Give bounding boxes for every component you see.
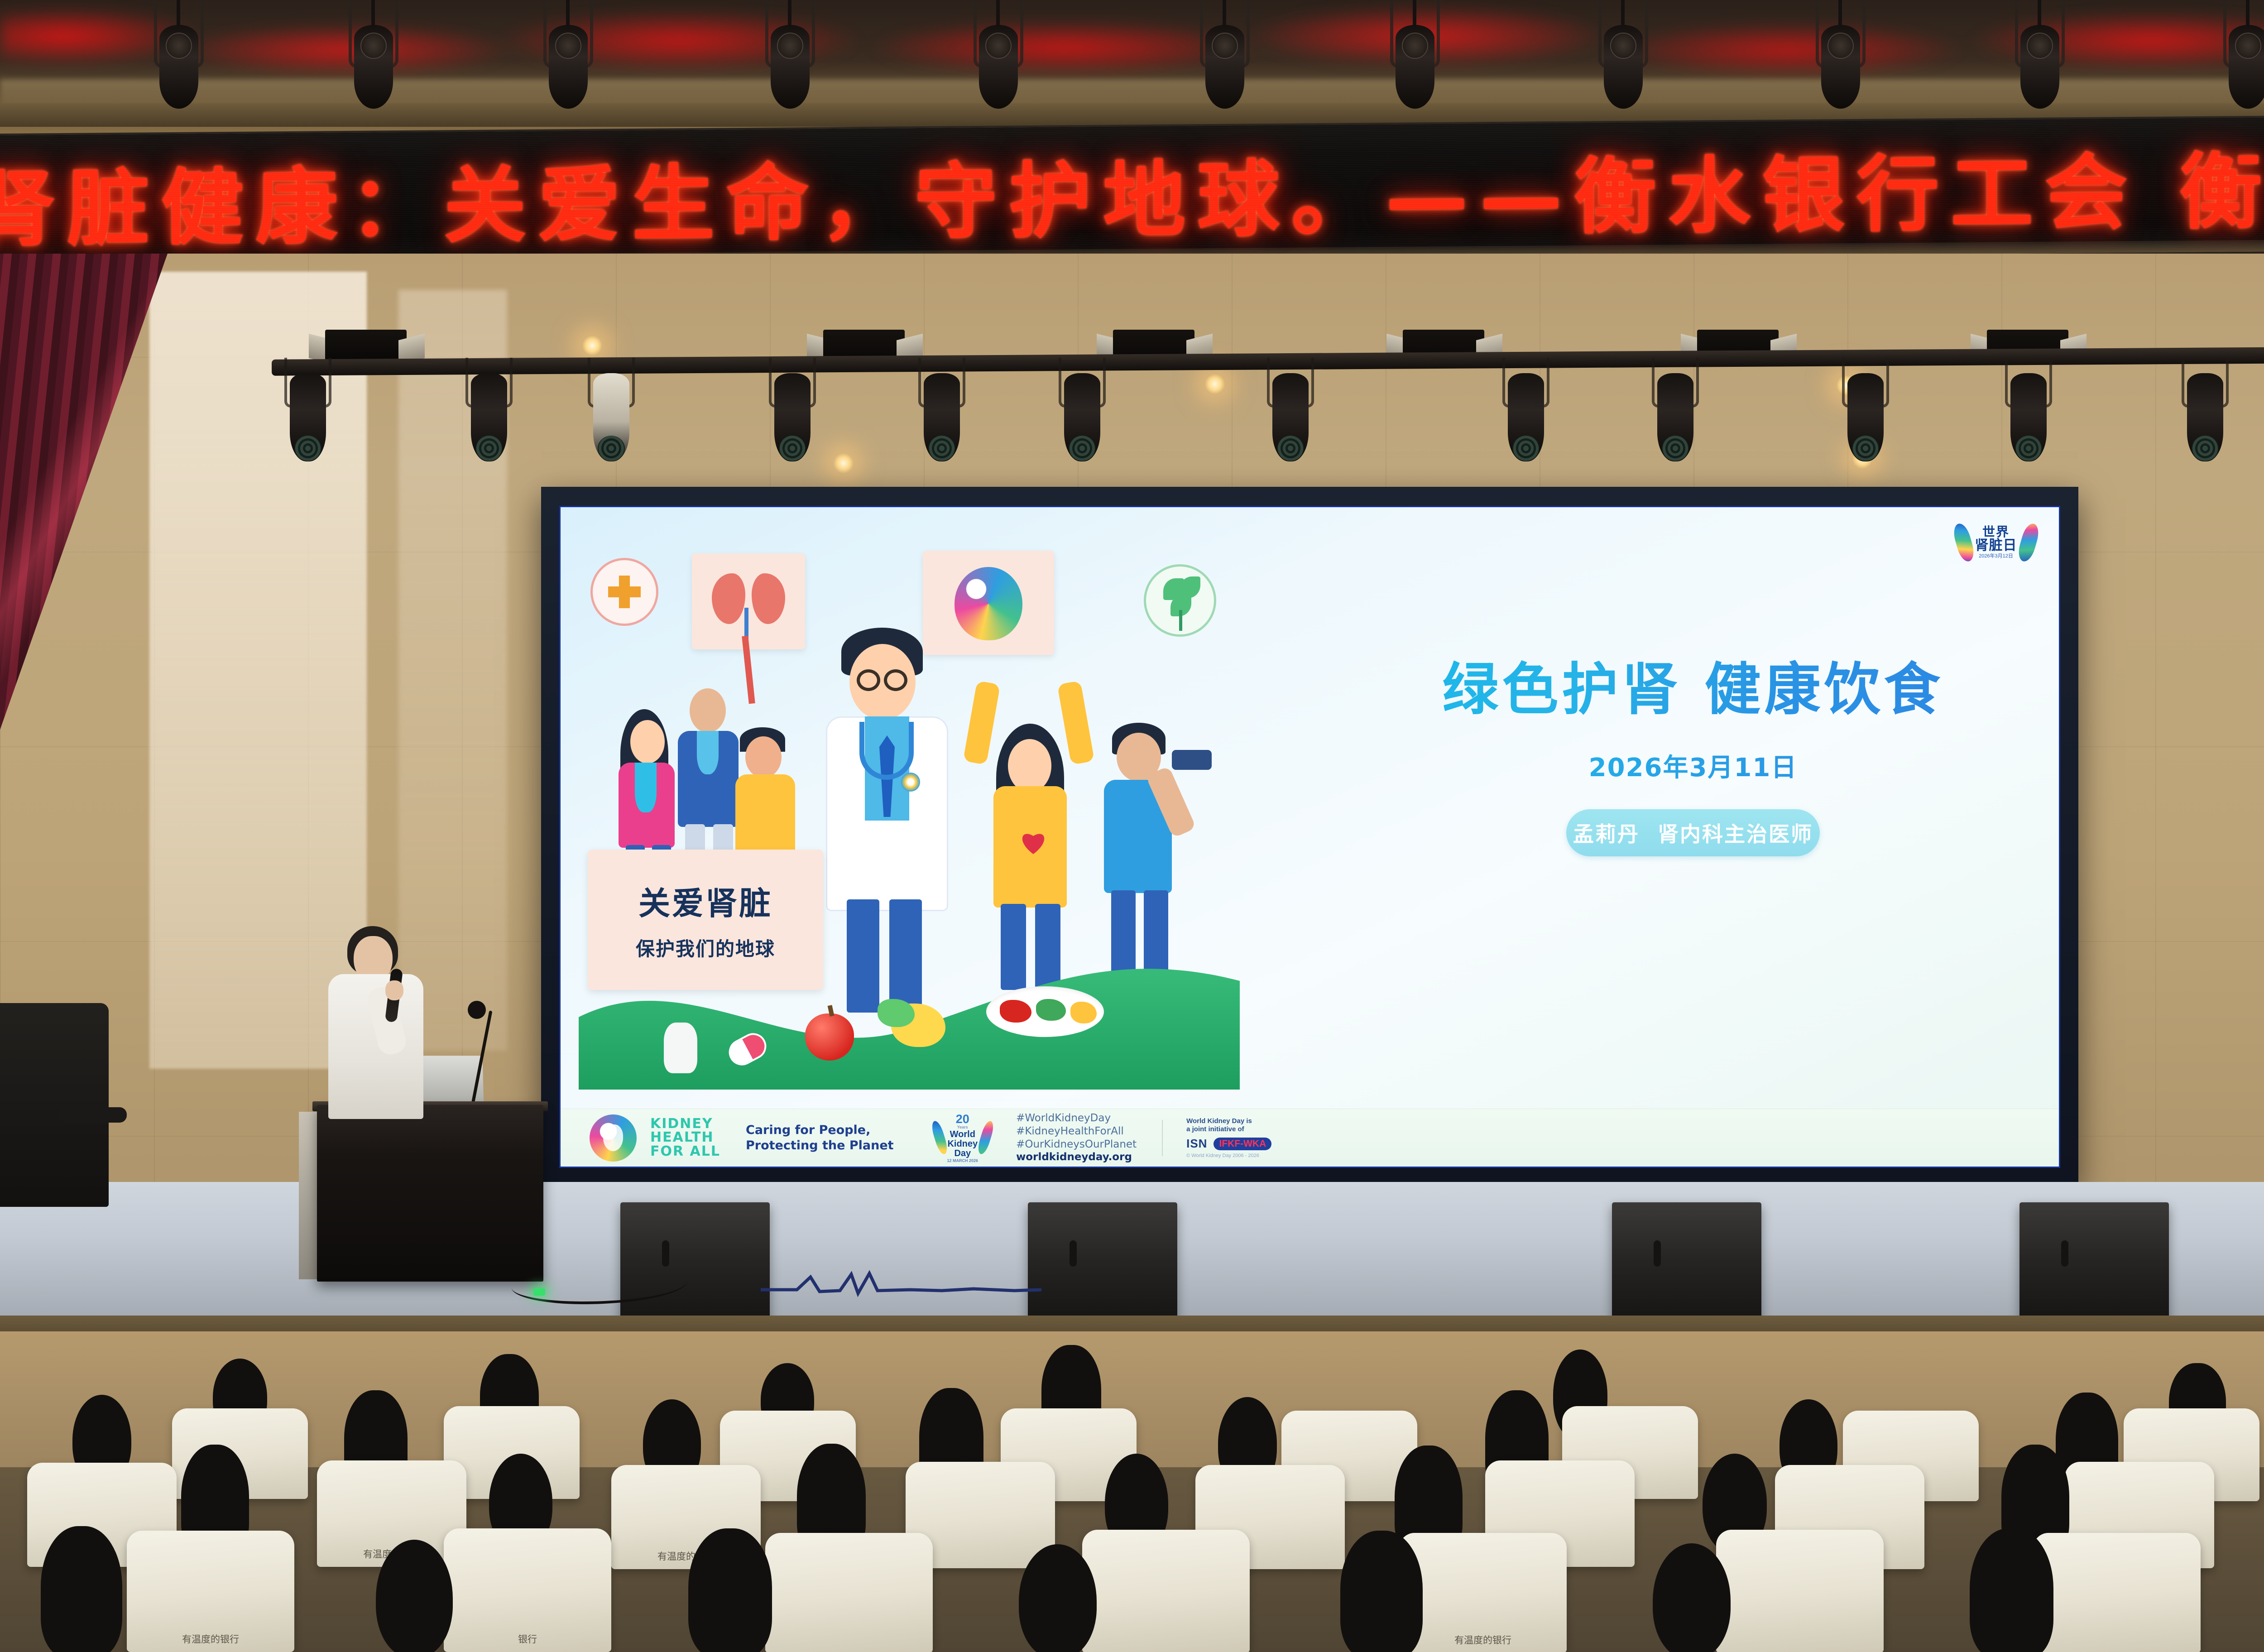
ceiling-spotlight-icon [969, 0, 1028, 113]
stage-armchair [0, 1003, 109, 1207]
wkd-anniversary-number: 20 [947, 1113, 979, 1126]
eyeglass-left-icon [857, 669, 880, 691]
partners-lead-1: World Kidney Day is [1186, 1117, 1271, 1125]
leaf-icon [1144, 564, 1216, 637]
audience-chair: 有温度的银行 [127, 1531, 294, 1652]
footer-tagline: Caring for People, Protecting the Planet [746, 1123, 894, 1153]
audience-chair [765, 1533, 933, 1652]
stage-spotlight-icon [765, 358, 820, 466]
kidney-ribbon-right-icon [2015, 522, 2041, 563]
audience-chair [1716, 1530, 1884, 1652]
partner-isn-logo: ISN [1186, 1137, 1207, 1151]
medical-cross-icon [590, 558, 658, 626]
stage-spotlight-icon [281, 358, 335, 466]
person-doctor [821, 628, 957, 1004]
wkd-cn-line1: 世界 [1975, 526, 2017, 539]
auditorium-photo: 肾脏健康：关爱生命，守护地球。——衡水银行工会 衡水市 [0, 0, 2264, 1652]
ceiling-bulb-icon [833, 453, 854, 474]
audience-head [1653, 1543, 1731, 1652]
stage-spotlight-icon [1648, 358, 1703, 466]
audience-head [1970, 1528, 2053, 1652]
footer-divider [1162, 1120, 1163, 1156]
slide-illustration: 关爱肾脏 保护我们的地球 [579, 546, 1226, 1081]
footer-partners: World Kidney Day is a joint initiative o… [1186, 1117, 1271, 1158]
ceiling-spotlight-icon [1811, 0, 1870, 113]
ceiling-spotlight-icon [149, 0, 208, 113]
stage-spotlight-icon [1055, 358, 1109, 466]
ceiling-red-glow [0, 5, 2264, 91]
presenter-badge: 孟莉丹 肾内科主治医师 [1566, 809, 1820, 856]
stage-spotlight-icon [462, 358, 516, 466]
presenter-speaker [319, 926, 441, 1116]
hashtag-3: #OurKidneysOurPlanet [1016, 1138, 1137, 1151]
presenter-role: 肾内科主治医师 [1658, 818, 1813, 848]
footer-website: worldkidneyday.org [1016, 1151, 1137, 1164]
ceiling-spotlight-icon [761, 0, 820, 113]
stage-spotlight-icon [584, 358, 638, 466]
world-kidney-day-cn-logo: 世界 肾脏日 2026年3月12日 [1948, 517, 2043, 568]
led-banner-text: 肾脏健康：关爱生命，守护地球。——衡水银行工会 衡水市 [0, 124, 2264, 262]
stethoscope-icon [859, 722, 914, 780]
stage-spotlight-icon [1263, 358, 1318, 466]
person-man-dumbbell [1095, 723, 1208, 994]
audience-head [688, 1528, 772, 1652]
slide-footer-bar: KIDNEY HEALTH FOR ALL Caring for People,… [561, 1109, 2059, 1167]
stage-spotlight-icon [915, 358, 969, 466]
kidney-left-icon [712, 573, 745, 624]
apple-icon [805, 1013, 854, 1061]
tagline-line-2: Protecting the Planet [746, 1138, 894, 1153]
earth-globe-icon [955, 567, 1022, 640]
green-status-led-icon [533, 1288, 545, 1296]
audience-chair: 有温度的银行 [1399, 1533, 1567, 1652]
stage-spotlight-icon [1499, 358, 1553, 466]
hashtag-1: #WorldKidneyDay [1016, 1112, 1137, 1125]
audience-head [1340, 1531, 1423, 1652]
audience-chair [1082, 1530, 1250, 1652]
podium [317, 1105, 543, 1282]
ceiling-spotlight-icon [539, 0, 598, 113]
wkd-ribbon-right-icon [976, 1120, 995, 1156]
ceiling-band [0, 79, 2264, 106]
kidney-health-globe-icon [590, 1114, 637, 1162]
presenter-name: 孟莉丹 [1573, 818, 1640, 848]
ceiling-spotlight-icon [2010, 0, 2069, 113]
ceiling-bulb-icon [1204, 374, 1225, 394]
wkd-ribbon-left-icon [930, 1120, 949, 1156]
chair-cover-text: 有温度的银行 [182, 1632, 239, 1646]
wkd-line-1: World [947, 1130, 979, 1139]
ceiling-spotlight-icon [1386, 0, 1444, 113]
sign-line-2: 保护我们的地球 [636, 934, 775, 961]
footer-copyright: © World Kidney Day 2006 - 2026 [1186, 1153, 1271, 1158]
tagline-line-1: Caring for People, [746, 1123, 894, 1138]
audience-head [376, 1540, 453, 1652]
stage-spotlight-icon [2001, 358, 2056, 466]
footer-hashtags: #WorldKidneyDay #KidneyHealthForAll #Our… [1016, 1112, 1137, 1164]
ceiling-spotlight-icon [344, 0, 403, 113]
wkd-cn-date: 2026年3月12日 [1975, 554, 2017, 559]
audience-head [41, 1526, 122, 1652]
illustration-main-sign: 关爱肾脏 保护我们的地球 [588, 850, 823, 990]
kidney-placard [692, 553, 805, 649]
wkd-cn-line2: 肾脏日 [1975, 539, 2017, 553]
chair-cover-text: 银行 [518, 1632, 537, 1646]
ceiling-spotlight-icon [1594, 0, 1653, 113]
projection-screen-frame: 世界 肾脏日 2026年3月12日 [541, 487, 2078, 1184]
partners-lead-2: a joint initiative of [1186, 1125, 1271, 1133]
audience-chair [2033, 1533, 2201, 1652]
tai-chi-runner-icon [664, 1023, 697, 1073]
stage-spotlight-icon [2178, 358, 2232, 466]
slide-title: 绿色护肾 健康饮食 [1353, 657, 2033, 723]
brand-line-1: KIDNEY [650, 1117, 720, 1131]
presentation-slide: 世界 肾脏日 2026年3月12日 [559, 506, 2060, 1168]
slide-text-block: 绿色护肾 健康饮食 2026年3月11日 孟莉丹 肾内科主治医师 [1353, 657, 2033, 856]
brand-line-3: FOR ALL [650, 1145, 720, 1159]
audience-head [1019, 1544, 1097, 1652]
wkd-date-label: 12 MARCH 2026 [947, 1159, 979, 1163]
stethoscope-chestpiece-icon [901, 773, 920, 792]
ceiling-bulb-icon [582, 335, 603, 356]
ekg-waveform-icon [761, 1268, 1041, 1300]
kidney-right-icon [752, 573, 785, 624]
slide-date: 2026年3月11日 [1353, 747, 2033, 784]
wkd-line-3: Day [947, 1149, 979, 1158]
ceiling-spotlight-icon [1195, 0, 1254, 113]
presenter-hand [385, 980, 403, 1000]
kidney-ribbon-left-icon [1951, 522, 1976, 563]
person-girl-yellow-heart [968, 696, 1090, 985]
gooseneck-mic-icon [468, 1001, 486, 1019]
partner-ifkf-logo: IFKF-WKA [1214, 1138, 1271, 1150]
world-kidney-day-logo: 20 Years World Kidney Day 12 MARCH 2026 [935, 1113, 991, 1163]
led-scrolling-banner: 肾脏健康：关爱生命，守护地球。——衡水银行工会 衡水市 [0, 114, 2264, 269]
chair-cover-text: 有温度的银行 [1454, 1633, 1511, 1647]
kidney-health-brand: KIDNEY HEALTH FOR ALL [650, 1117, 720, 1159]
dumbbell-icon [1172, 750, 1212, 770]
brand-line-2: HEALTH [650, 1131, 720, 1145]
sign-line-1: 关爱肾脏 [638, 878, 772, 924]
audience-seating-area: 银行 有温度的银行 有温度的银行 有温度的银行 银行 有温度的银行 [0, 1331, 2264, 1652]
eyeglass-right-icon [884, 669, 907, 691]
wkd-line-2: Kidney [947, 1139, 979, 1149]
stage-spotlight-icon [1838, 358, 1893, 466]
hashtag-2: #KidneyHealthForAll [1016, 1125, 1137, 1138]
ceiling-spotlight-icon [2219, 0, 2264, 113]
audience-chair: 银行 [444, 1528, 611, 1652]
